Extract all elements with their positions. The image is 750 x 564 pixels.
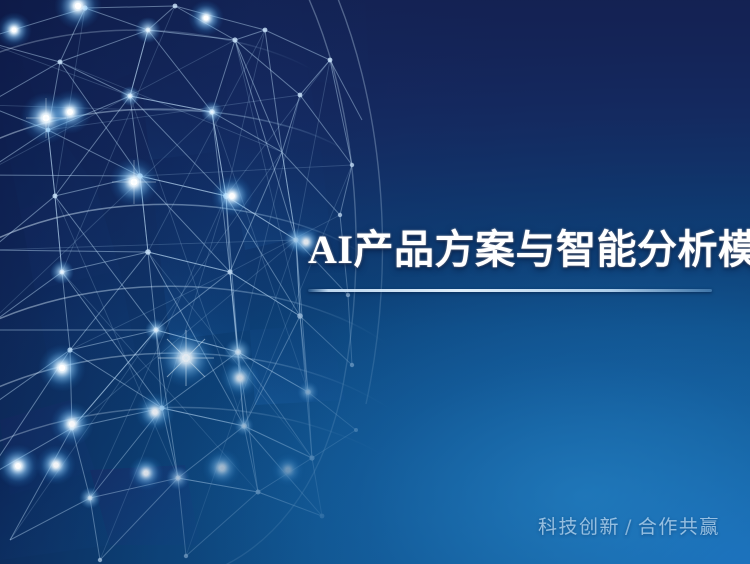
tagline-left: 科技创新 xyxy=(538,516,620,538)
title-underline xyxy=(308,289,712,292)
slide-tagline: 科技创新/合作共赢 xyxy=(538,512,720,539)
title-block: AI产品方案与智能分析模式 xyxy=(308,228,720,292)
page-title: AI产品方案与智能分析模式 xyxy=(308,228,720,273)
tagline-separator: / xyxy=(620,516,638,538)
tagline-right: 合作共赢 xyxy=(638,516,720,538)
presentation-slide: AI产品方案与智能分析模式 科技创新/合作共赢 xyxy=(0,0,750,564)
